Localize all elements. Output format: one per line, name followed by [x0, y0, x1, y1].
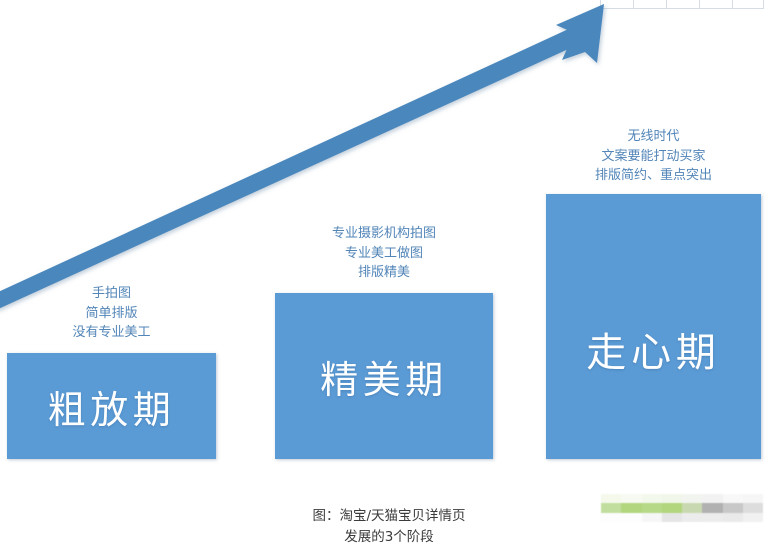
watermark-tile — [662, 503, 682, 512]
watermark-tile — [662, 494, 682, 503]
watermark-tile — [723, 494, 743, 503]
watermark-tile — [601, 513, 621, 522]
grid-line — [666, 0, 667, 8]
watermark-tile — [621, 494, 641, 503]
stage-2-annotation: 专业摄影机构拍图 专业美工做图 排版精美 — [275, 224, 493, 283]
diagram-caption: 图：淘宝/天猫宝贝详情页 发展的3个阶段 — [254, 506, 524, 548]
annotation-line: 专业美工做图 — [275, 244, 493, 264]
watermark-tile — [642, 494, 662, 503]
caption-line: 发展的3个阶段 — [254, 527, 524, 548]
annotation-line: 排版精美 — [275, 263, 493, 283]
stage-1-annotation: 手拍图 简单排版 没有专业美工 — [7, 284, 216, 343]
grid-line — [763, 0, 764, 8]
watermark-tile — [642, 503, 662, 512]
annotation-line: 排版简约、重点突出 — [546, 166, 761, 186]
stage-2-bar: 精美期 — [275, 293, 493, 459]
stage-1-label: 粗放期 — [48, 379, 176, 434]
stage-3-label: 走心期 — [586, 320, 720, 378]
grid-line — [633, 0, 634, 8]
annotation-line: 手拍图 — [7, 284, 216, 304]
annotation-line: 专业摄影机构拍图 — [275, 224, 493, 244]
annotation-line: 简单排版 — [7, 304, 216, 324]
annotation-line: 无线时代 — [546, 127, 761, 147]
watermark-tile — [702, 513, 722, 522]
watermark-tile — [601, 494, 621, 503]
watermark-tile — [682, 513, 702, 522]
watermark-tile — [743, 503, 763, 512]
watermark-tile — [601, 503, 621, 512]
grid-line — [699, 0, 700, 8]
annotation-line: 文案要能打动买家 — [546, 147, 761, 167]
watermark-tile — [662, 513, 682, 522]
watermark-tile — [743, 494, 763, 503]
watermark-tile — [743, 513, 763, 522]
watermark-tile — [682, 503, 702, 512]
stage-3-annotation: 无线时代 文案要能打动买家 排版简约、重点突出 — [546, 127, 761, 186]
stage-2-label: 精美期 — [320, 349, 448, 404]
grid-line — [732, 0, 733, 8]
watermark-tile — [642, 513, 662, 522]
annotation-line: 没有专业美工 — [7, 323, 216, 343]
watermark-tile — [682, 494, 702, 503]
caption-line: 图：淘宝/天猫宝贝详情页 — [254, 506, 524, 527]
stage-3-bar: 走心期 — [546, 194, 761, 459]
grid-remnant — [600, 0, 764, 9]
stage-1-bar: 粗放期 — [7, 353, 216, 459]
diagram-canvas: 手拍图 简单排版 没有专业美工 粗放期 专业摄影机构拍图 专业美工做图 排版精美… — [0, 0, 778, 560]
watermark-tile — [621, 503, 641, 512]
watermark-tile — [702, 494, 722, 503]
watermark-tile — [723, 503, 743, 512]
blurred-watermark — [601, 494, 763, 522]
watermark-tile — [621, 513, 641, 522]
watermark-tile — [723, 513, 743, 522]
grid-line — [600, 0, 601, 8]
watermark-tile — [702, 503, 722, 512]
